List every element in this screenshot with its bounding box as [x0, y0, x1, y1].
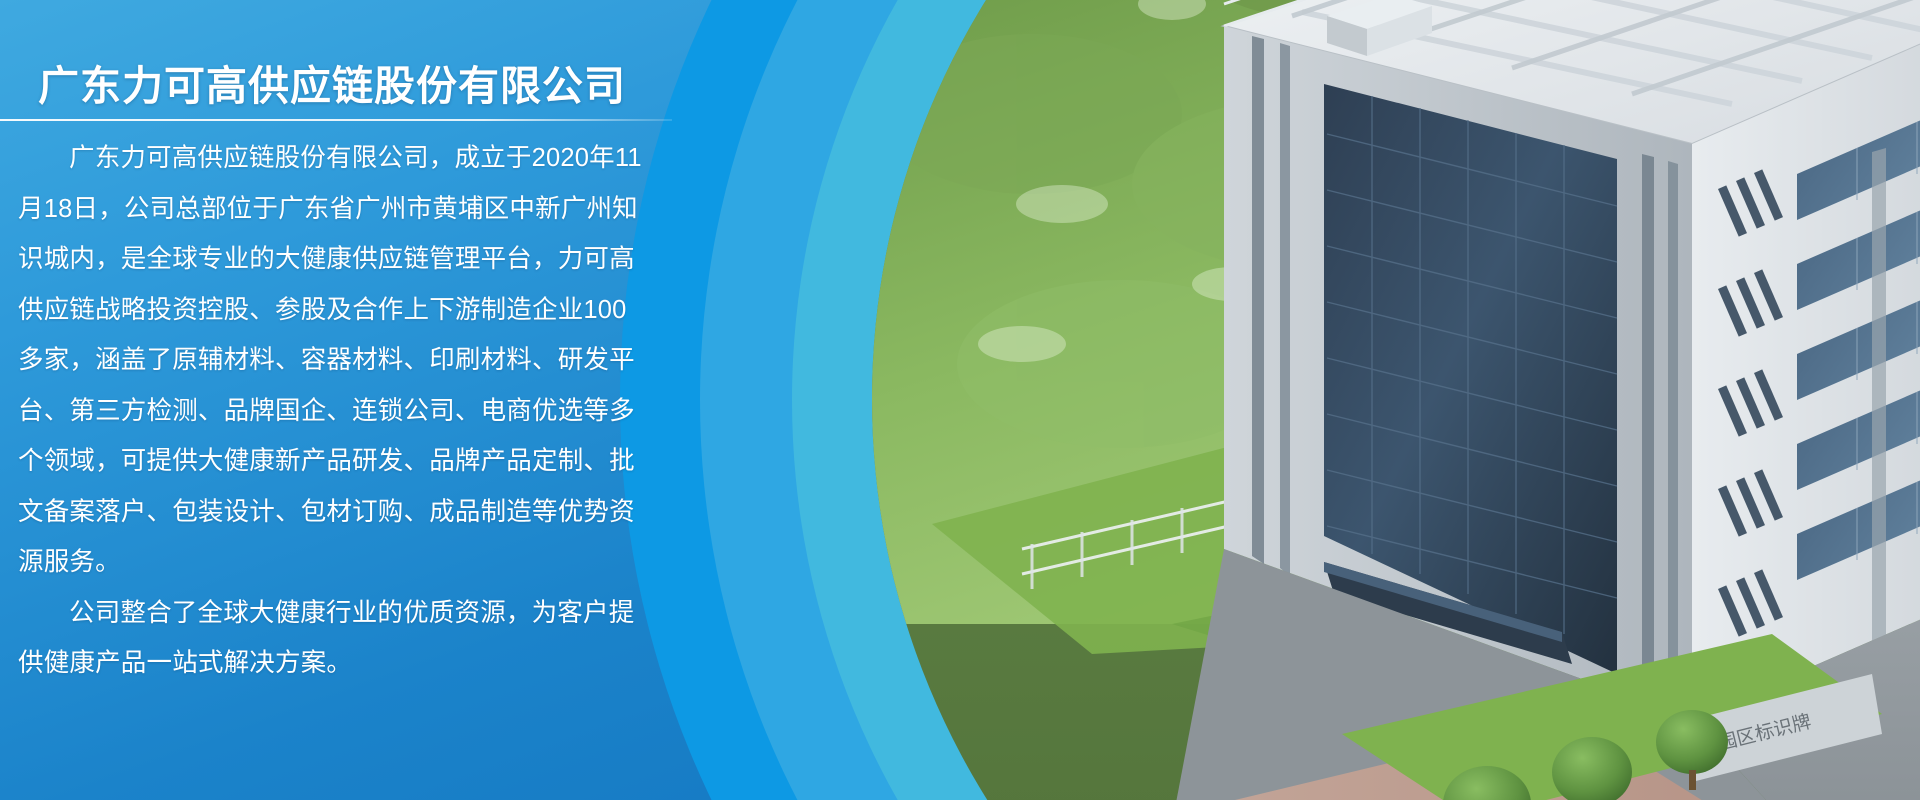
company-profile-banner: 园区标识牌	[0, 0, 1920, 800]
company-description: 广东力可高供应链股份有限公司，成立于2020年11月18日，公司总部位于广东省广…	[18, 133, 648, 689]
text-panel: 广东力可高供应链股份有限公司 广东力可高供应链股份有限公司，成立于2020年11…	[0, 0, 680, 800]
headquarters-photo: 园区标识牌	[872, 0, 1920, 800]
paragraph-1: 广东力可高供应链股份有限公司，成立于2020年11月18日，公司总部位于广东省广…	[18, 133, 648, 588]
page-title: 广东力可高供应链股份有限公司	[38, 52, 626, 112]
title-divider	[0, 119, 672, 121]
paragraph-2: 公司整合了全球大健康行业的优质资源，为客户提供健康产品一站式解决方案。	[18, 588, 648, 689]
